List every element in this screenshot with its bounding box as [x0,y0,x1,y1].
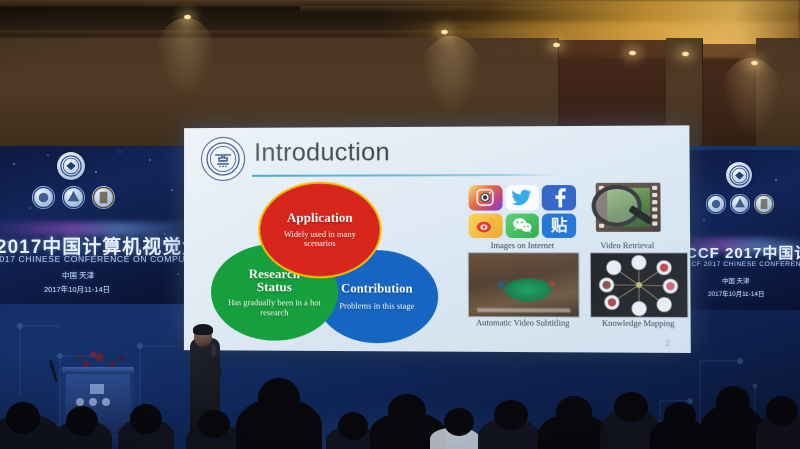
org-emblem-icon [62,186,85,209]
podium-org-logos [76,398,110,406]
circle-application-heading: Application [287,211,353,224]
slide-title: Introduction [254,138,390,168]
org-logo-1 [32,186,55,209]
circle-contribution-heading: Contribution [341,282,413,295]
video-retrieval-thumbnail [589,179,664,238]
ceiling-spotlight [183,14,192,20]
automatic-video-subtitling-thumbnail [468,252,580,317]
org-logo-3 [754,194,774,214]
circle-research-status-body: Has gradually been in a hot research [219,298,330,317]
ceiling-spotlight [750,60,759,66]
wechat-icon [505,213,539,238]
caption-knowledge-mapping: Knowledge Mapping [588,319,689,329]
banner-left: 2017中国计算机视觉大会 2017 CHINESE CONFERENCE ON… [0,146,186,304]
caption-images-on-internet: Images on Internet [467,241,579,250]
banner-left-location: 中国 天津 [62,270,94,281]
org-logo-1 [706,194,726,214]
conference-photo: CCCV2017 [0,0,800,449]
circle-application-body: Widely used in many scenarios [273,230,366,249]
ccf-logo [57,152,85,180]
tieba-glyph: 贴 [551,217,568,233]
handheld-microphone [211,344,216,357]
banner-right: CCF 2017中国计算机视 CCF 2017 CHINESE CONFEREN… [676,150,800,310]
ceiling-spotlight [440,29,449,35]
ceiling-spotlight [681,51,690,57]
org-emblem-icon [754,194,774,214]
banner-right-date: 2017年10月11-14日 [708,289,764,298]
org-emblem-icon [730,194,750,214]
knowledge-graph-icon [591,253,688,317]
twitter-bird-icon [512,189,532,205]
banner-left-title-en: 2017 CHINESE CONFERENCE ON COMPUTER VISI… [0,254,186,264]
banner-left-date: 2017年10月11-14日 [44,284,110,295]
org-emblem-icon [92,186,115,209]
subtitle-bar [478,308,570,312]
title-underline [252,174,558,177]
caption-automatic-video-subtitling: Automatic Video Subtitling [464,318,582,328]
cccv-circular-logo [201,137,245,181]
weibo-eye-icon [476,217,496,234]
images-on-internet-thumbnail: 贴 [469,185,577,238]
presenter-hair [193,324,213,335]
caption-video-retrieval: Video Retrieval [588,241,667,250]
banner-right-title-en: CCF 2017 CHINESE CONFERENCE ON COMP [686,261,800,268]
circle-application: Application Widely used in many scenario… [258,181,382,278]
ceiling-spotlight [628,50,637,56]
ccf-emblem-icon [60,155,82,177]
org-emblem-icon [706,194,726,214]
facebook-f-icon [550,187,569,207]
ccf-logo [726,162,752,188]
instagram-icon [469,185,503,210]
wechat-bubbles-icon [512,217,533,234]
banner-right-title-cn: CCF 2017中国计算机视 [686,242,800,263]
banner-right-location: 中国 天津 [722,276,749,285]
weibo-icon [469,213,503,238]
podium-logo-mark [90,384,104,394]
circle-contribution-body: Problems in this stage [339,301,414,311]
tieba-icon: 贴 [542,213,576,238]
instagram-camera-icon [476,189,495,207]
org-logo-2 [730,194,750,214]
cccv-emblem-icon [206,142,240,176]
knowledge-mapping-thumbnail [590,252,689,318]
ccf-emblem-icon [729,165,750,186]
facebook-icon [542,185,576,210]
ceiling-spotlight [552,42,561,48]
org-emblem-icon [32,186,55,209]
slide-page-number: 2 [666,338,670,347]
org-logo-3 [92,186,115,209]
projected-slide: Introduction Application Widely used in … [184,125,691,353]
twitter-icon [505,185,539,210]
org-logo-2 [62,186,85,209]
